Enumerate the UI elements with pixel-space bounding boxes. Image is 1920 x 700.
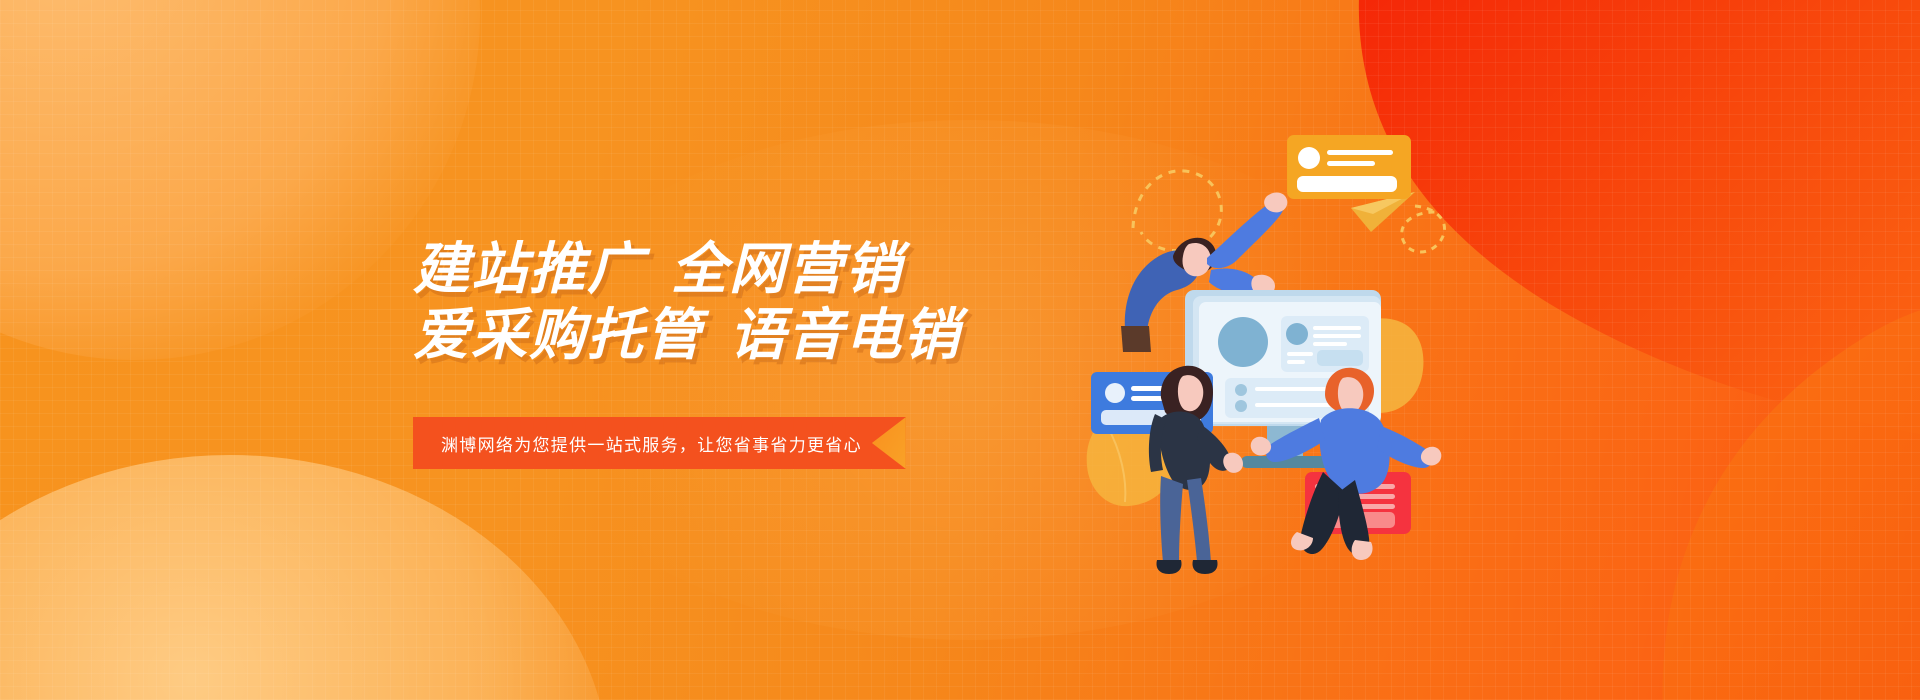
- headline-line1-part2: 全网营销: [671, 237, 903, 300]
- headline-line-2: 爱采购托管语音电销: [413, 302, 1053, 368]
- dashed-arc-decoration: [1133, 171, 1221, 251]
- dashed-trail-decoration: [1402, 206, 1445, 252]
- team-collaboration-illustration: [1115, 120, 1445, 600]
- ribbon-notch: [872, 417, 906, 469]
- promo-banner: 建站推广全网营销 爱采购托管语音电销 渊博网络为您提供一站式服务，让您省事省力更…: [0, 0, 1920, 700]
- headline-block: 建站推广全网营销 爱采购托管语音电销: [413, 236, 1053, 367]
- headline-line2-part1: 爱采购托管: [413, 303, 703, 366]
- yellow-info-card: [1287, 135, 1411, 199]
- headline-line2-part2: 语音电销: [729, 303, 961, 366]
- headline-line1-part1: 建站推广: [413, 237, 645, 300]
- headline-line-1: 建站推广全网营销: [413, 236, 1053, 302]
- tagline-ribbon: 渊博网络为您提供一站式服务，让您省事省力更省心: [413, 417, 906, 469]
- tagline-text: 渊博网络为您提供一站式服务，让您省事省力更省心: [441, 431, 862, 456]
